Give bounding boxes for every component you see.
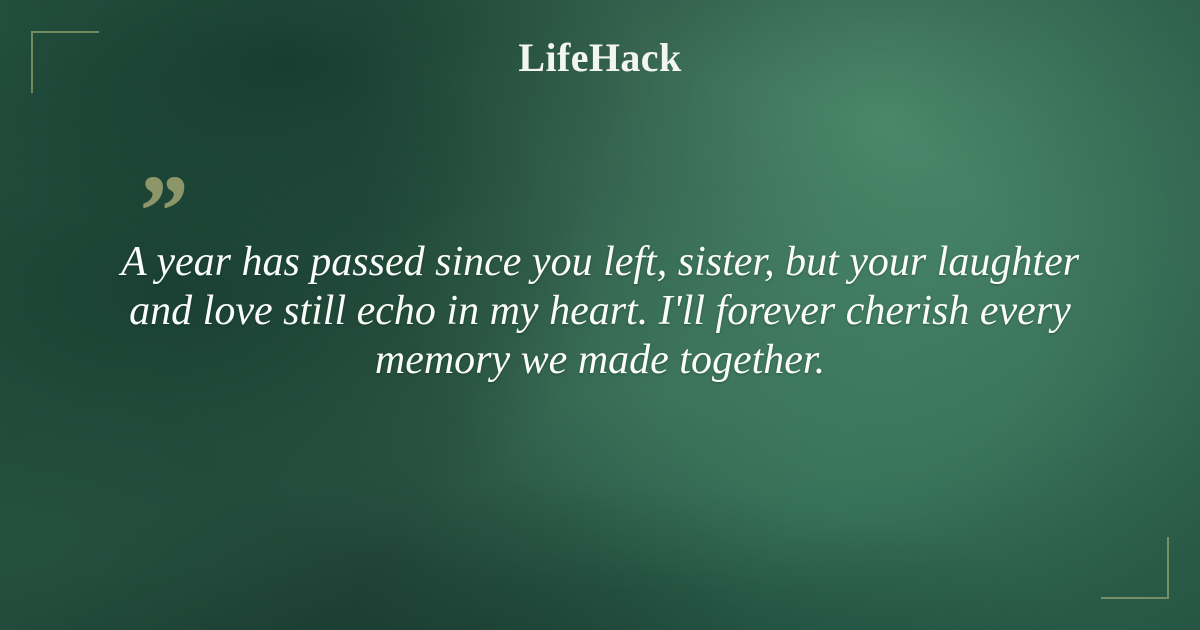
quote-text: A year has passed since you left, sister… <box>100 238 1100 385</box>
corner-bracket-bottom-right-icon <box>1101 537 1169 599</box>
brand-logo: LifeHack <box>0 38 1200 78</box>
quote-card: LifeHack ” A year has passed since you l… <box>0 0 1200 630</box>
quotation-mark-icon: ” <box>134 160 1100 220</box>
quote-block: ” A year has passed since you left, sist… <box>100 160 1100 385</box>
